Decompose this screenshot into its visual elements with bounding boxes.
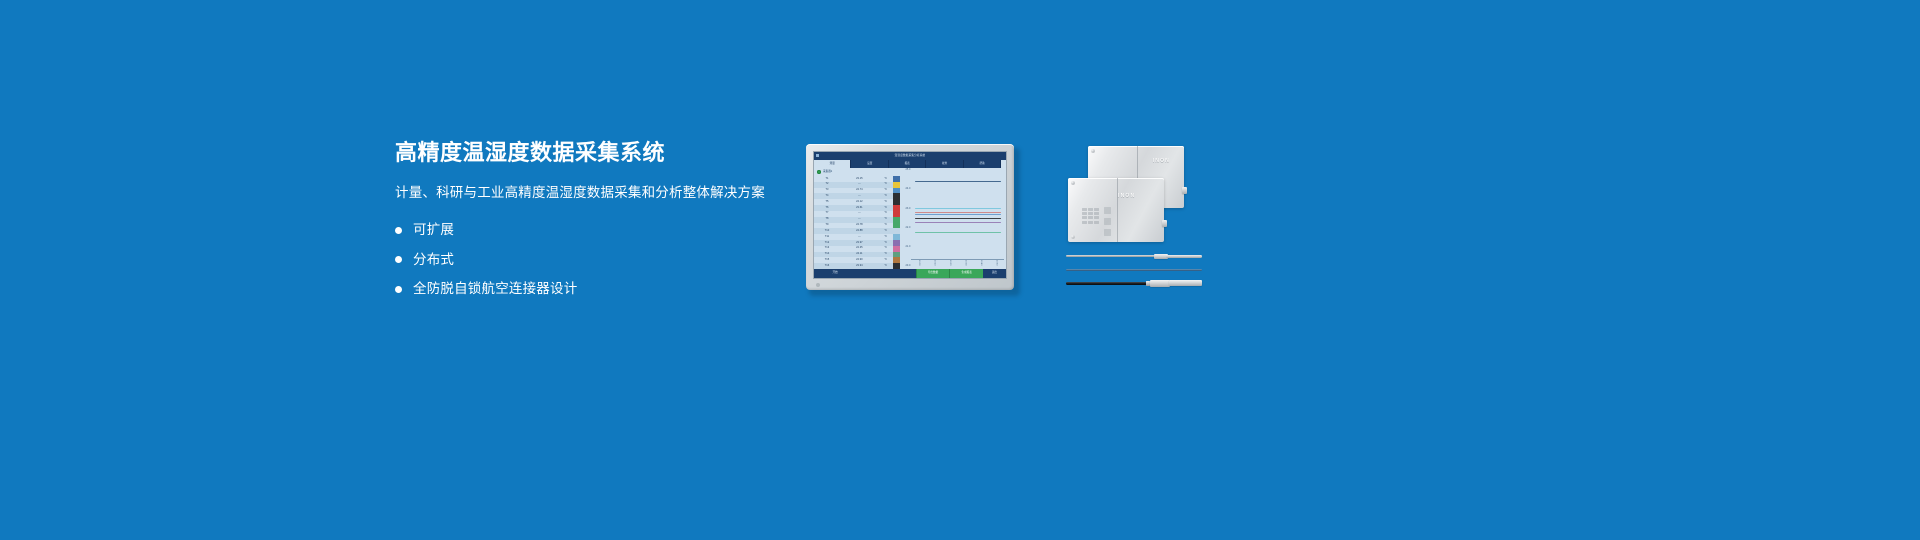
- tab-report[interactable]: 报表: [889, 160, 926, 168]
- connector-port: [1182, 187, 1187, 194]
- label-cell: [1082, 221, 1087, 224]
- label-cell: [1094, 221, 1099, 224]
- channel-name: T5: [814, 201, 840, 204]
- channel-panel: 采集器1 T123.15℃T2---℃T324.74℃T4---℃T524.12…: [814, 168, 900, 269]
- channel-value: 24.74: [840, 189, 879, 192]
- chart-plot: 25.024.023.022.021.020.0 10:0010:1010:20…: [900, 168, 1006, 269]
- channel-name: T7: [814, 212, 840, 215]
- channel-name: T6: [814, 207, 840, 210]
- channel-unit: ℃: [879, 242, 893, 245]
- acquisition-module-front: INON: [1068, 178, 1164, 242]
- channel-unit: ℃: [879, 236, 893, 239]
- label-cell: [1094, 216, 1099, 219]
- chart-line-T12: [915, 222, 1001, 223]
- channel-value: ---: [840, 183, 879, 186]
- probe-cable: [1066, 269, 1202, 271]
- start-button[interactable]: 开始: [814, 269, 856, 278]
- channel-unit: ℃: [879, 259, 893, 262]
- y-tick-label: 20.0: [900, 265, 911, 268]
- humidity-probe-blue: [1066, 266, 1202, 274]
- channel-value: ---: [840, 195, 879, 198]
- app-title: 温湿度数据采集分析系统: [895, 155, 926, 158]
- channel-unit: ℃: [879, 218, 893, 221]
- x-tick-label: 10:50: [995, 260, 997, 269]
- channel-value: 24.11: [840, 253, 879, 256]
- feature-list: 可扩展 分布式 全防脱自锁航空连接器设计: [395, 223, 815, 296]
- chart-plot-area: [911, 169, 1004, 260]
- chart-panel: 25.024.023.022.021.020.0 10:0010:1010:20…: [900, 168, 1006, 269]
- channel-name: T13: [814, 247, 840, 250]
- channel-table: T123.15℃T2---℃T324.74℃T4---℃T524.12℃T623…: [814, 176, 900, 269]
- chart-x-axis: 10:0010:1010:2010:3010:4010:50: [911, 259, 1004, 269]
- feature-label: 可扩展: [413, 223, 454, 237]
- action-bar-spacer: [856, 269, 915, 278]
- feature-label: 全防脱自锁航空连接器设计: [413, 282, 577, 296]
- channel-name: T2: [814, 183, 840, 186]
- label-cell: [1094, 208, 1099, 211]
- channel-name: T4: [814, 195, 840, 198]
- channel-name: T14: [814, 253, 840, 256]
- y-tick-label: 24.0: [900, 188, 911, 191]
- channel-value: 24.12: [840, 201, 879, 204]
- label-block: [1104, 229, 1111, 236]
- channel-value: 24.35: [840, 247, 879, 250]
- tab-measure[interactable]: 测量: [814, 160, 851, 168]
- y-tick-label: 22.0: [900, 227, 911, 230]
- channel-value: 24.78: [840, 224, 879, 227]
- chart-line-T9: [915, 218, 1001, 219]
- label-cell: [1094, 212, 1099, 215]
- aviation-connector-body: [1150, 280, 1170, 287]
- bullet-icon: [395, 286, 402, 293]
- temperature-probe-silver: [1066, 252, 1202, 260]
- channel-name: T8: [814, 218, 840, 221]
- chart-line-T5: [915, 212, 1001, 213]
- channel-value: 24.90: [840, 259, 879, 262]
- channel-name: T9: [814, 224, 840, 227]
- x-tick-label: 10:20: [949, 260, 951, 269]
- x-tick-label: 10:00: [918, 260, 920, 269]
- action-bar: 开始 导出数据 生成报表 退出: [814, 269, 1006, 278]
- channel-unit: ℃: [879, 224, 893, 227]
- channel-value: 23.15: [840, 178, 879, 181]
- channel-value: 23.97: [840, 242, 879, 245]
- status-indicator-icon: [817, 170, 821, 174]
- aviation-connector-probe: [1066, 278, 1202, 290]
- channel-name: T1: [814, 178, 840, 181]
- list-item: 全防脱自锁航空连接器设计: [395, 282, 815, 296]
- channel-unit: ℃: [879, 189, 893, 192]
- label-cell: [1088, 212, 1093, 215]
- screw-icon: [1071, 181, 1075, 185]
- tab-calibration[interactable]: 校准: [926, 160, 963, 168]
- panel-pc-device: 温湿度数据采集分析系统 测量 设置 报表 校准 帮助 采集器1: [806, 144, 1020, 294]
- chart-line-T15: [915, 232, 1001, 233]
- list-item: 可扩展: [395, 223, 815, 237]
- chart-line-T1: [915, 181, 1001, 182]
- channel-unit: ℃: [879, 265, 893, 268]
- screw-icon: [1071, 235, 1075, 239]
- label-block: [1104, 218, 1111, 225]
- exit-button[interactable]: 退出: [983, 269, 1006, 278]
- channel-unit: ℃: [879, 212, 893, 215]
- app-logo-icon: [816, 154, 819, 157]
- tab-bar-filler: [1001, 160, 1006, 168]
- tab-settings[interactable]: 设置: [851, 160, 888, 168]
- hardware-group: INON INON: [1064, 144, 1204, 294]
- y-tick-label: 23.0: [900, 208, 911, 211]
- bullet-icon: [395, 256, 402, 263]
- channel-value: ---: [840, 218, 879, 221]
- channel-unit: ℃: [879, 253, 893, 256]
- device-screen: 温湿度数据采集分析系统 测量 设置 报表 校准 帮助 采集器1: [813, 151, 1007, 279]
- channel-name: T11: [814, 236, 840, 239]
- tab-bar: 测量 设置 报表 校准 帮助: [814, 160, 1006, 168]
- screw-icon: [1091, 149, 1095, 153]
- x-tick-label: 10:10: [933, 260, 935, 269]
- channel-unit: ℃: [879, 195, 893, 198]
- channel-name: T15: [814, 259, 840, 262]
- label-cell: [1088, 208, 1093, 211]
- channel-unit: ℃: [879, 178, 893, 181]
- channel-unit: ℃: [879, 207, 893, 210]
- channel-name: T12: [814, 242, 840, 245]
- label-matrix: [1082, 208, 1099, 224]
- module-seam: [1117, 178, 1118, 242]
- bullet-icon: [395, 227, 402, 234]
- channel-value: 24.88: [840, 230, 879, 233]
- brand-logo: INON: [1153, 159, 1170, 164]
- channel-value: ---: [840, 212, 879, 215]
- channel-value: 23.61: [840, 207, 879, 210]
- probe-cable: [1066, 255, 1158, 257]
- product-banner: 高精度温湿度数据采集系统 计量、科研与工业高精度温湿度数据采集和分析整体解决方案…: [0, 0, 1920, 540]
- probe-cable: [1066, 282, 1148, 285]
- y-tick-label: 25.0: [900, 169, 911, 172]
- generate-report-button[interactable]: 生成报表: [949, 269, 983, 278]
- chart-line-T3: [915, 208, 1001, 209]
- label-cell: [1082, 216, 1087, 219]
- channel-unit: ℃: [879, 230, 893, 233]
- probe-sheath: [1166, 255, 1202, 258]
- export-data-button[interactable]: 导出数据: [916, 269, 950, 278]
- channel-name: T16: [814, 265, 840, 268]
- label-cell: [1088, 221, 1093, 224]
- device-node[interactable]: 采集器1: [814, 168, 900, 176]
- chart-y-axis: 25.024.023.022.021.020.0: [900, 168, 911, 269]
- page-title: 高精度温湿度数据采集系统: [395, 140, 815, 166]
- x-tick-label: 10:40: [980, 260, 982, 269]
- label-block: [1104, 207, 1111, 214]
- app-titlebar: 温湿度数据采集分析系统: [814, 152, 1006, 160]
- list-item: 分布式: [395, 253, 815, 267]
- x-tick-label: 10:30: [964, 260, 966, 269]
- channel-name: T3: [814, 189, 840, 192]
- label-cell: [1082, 208, 1087, 211]
- connector-port: [1162, 220, 1167, 227]
- channel-unit: ℃: [879, 201, 893, 204]
- channel-value: 23.94: [840, 265, 879, 268]
- label-cell: [1088, 216, 1093, 219]
- chart-line-T6: [915, 214, 1001, 215]
- feature-label: 分布式: [413, 253, 454, 267]
- channel-unit: ℃: [879, 183, 893, 186]
- y-tick-label: 21.0: [900, 246, 911, 249]
- device-bezel: 温湿度数据采集分析系统 测量 设置 报表 校准 帮助 采集器1: [806, 144, 1014, 290]
- tab-help[interactable]: 帮助: [964, 160, 1001, 168]
- channel-name: T10: [814, 230, 840, 233]
- brand-logo: INON: [1118, 194, 1135, 199]
- channel-value: ---: [840, 236, 879, 239]
- device-node-label: 采集器1: [823, 171, 832, 174]
- app-main: 采集器1 T123.15℃T2---℃T324.74℃T4---℃T524.12…: [814, 168, 1006, 269]
- copy-block: 高精度温湿度数据采集系统 计量、科研与工业高精度温湿度数据采集和分析整体解决方案…: [395, 140, 815, 312]
- page-subtitle: 计量、科研与工业高精度温湿度数据采集和分析整体解决方案: [395, 184, 815, 203]
- probe-sheath: [1169, 280, 1202, 286]
- channel-unit: ℃: [879, 247, 893, 250]
- label-cell: [1082, 212, 1087, 215]
